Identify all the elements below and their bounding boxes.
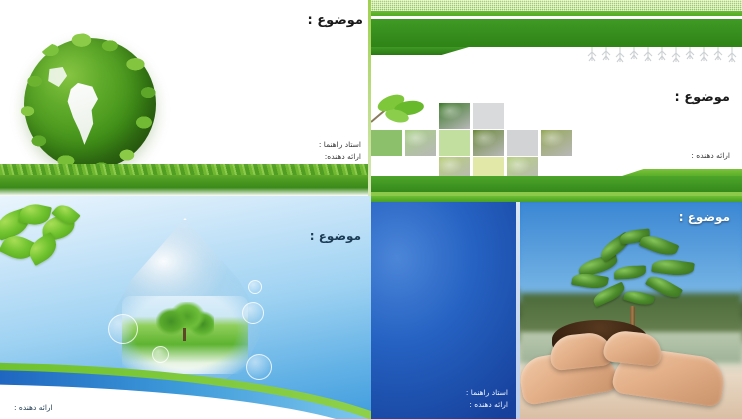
globe-landmass-secondary <box>45 67 67 87</box>
mosaic-photo-tile <box>439 103 470 129</box>
footer-green-band <box>371 176 742 192</box>
credits-block: ارائه دهنده : <box>14 402 53 413</box>
slide-subject-label: موضوع : <box>310 229 361 243</box>
leaf-sprig-icon <box>371 92 429 128</box>
branch-pattern-icon <box>586 47 738 67</box>
seedling-leaf-icon <box>614 265 646 279</box>
mosaic-photo-tile <box>541 130 572 156</box>
header-notch <box>371 47 469 55</box>
seedling-leaf-icon <box>623 288 655 308</box>
globe-landmass-primary <box>64 83 104 145</box>
slide-thumbnail-hands[interactable]: موضوع : استاد راهنما : ارائه دهنده : <box>371 196 742 419</box>
slide-thumbnail-mosaic[interactable]: موضوع : ارائه دهنده : <box>371 0 742 196</box>
credits-block: استاد راهنما : ارائه دهنده: <box>319 139 361 163</box>
seedling-leaf-icon <box>639 231 680 259</box>
mosaic-color-tile <box>473 103 504 129</box>
bubble-icon <box>108 314 138 344</box>
slide-thumbnail-globe[interactable]: موضوع : استاد راهنما : ارائه دهنده: <box>0 0 371 196</box>
bubble-icon <box>248 280 262 294</box>
header-checkered-band <box>371 0 742 11</box>
footer-notch <box>622 169 742 176</box>
credits-block: استاد راهنما : ارائه دهنده : <box>371 387 516 411</box>
presenter-label: ارائه دهنده: <box>319 151 361 163</box>
mosaic-color-tile <box>371 130 402 156</box>
bubble-icon <box>152 346 169 363</box>
seedling-leaf-icon <box>571 271 609 291</box>
mosaic-photo-tile <box>473 130 504 156</box>
hands-plant-icon <box>520 202 742 419</box>
seedling-leaf-icon <box>651 257 695 278</box>
credits-block: ارائه دهنده : <box>691 150 730 162</box>
bubble-icon <box>246 354 272 380</box>
advisor-label: استاد راهنما : <box>319 139 361 151</box>
mosaic-photo-tile <box>405 130 436 156</box>
grass-strip <box>0 164 371 196</box>
bubble-icon <box>242 302 264 324</box>
mosaic-color-tile <box>439 130 470 156</box>
slide-subject-label: موضوع : <box>674 90 730 105</box>
presenter-label: ارائه دهنده : <box>371 399 508 411</box>
slide-thumbnail-waterdrop[interactable]: موضوع : ارائه دهنده : <box>0 196 371 419</box>
mosaic-color-tile <box>507 130 538 156</box>
header-dark-band <box>371 19 742 47</box>
slide-thumbnail-grid: موضوع : استاد راهنما : ارائه دهنده: <box>0 0 742 419</box>
presenter-label: ارائه دهنده : <box>14 402 53 413</box>
slide-subject-label: موضوع : <box>679 210 730 224</box>
advisor-label: استاد راهنما : <box>371 387 508 399</box>
presenter-label: ارائه دهنده : <box>691 150 730 162</box>
leaf-cluster-icon <box>0 202 102 276</box>
slide-subject-label: موضوع : <box>307 13 363 28</box>
